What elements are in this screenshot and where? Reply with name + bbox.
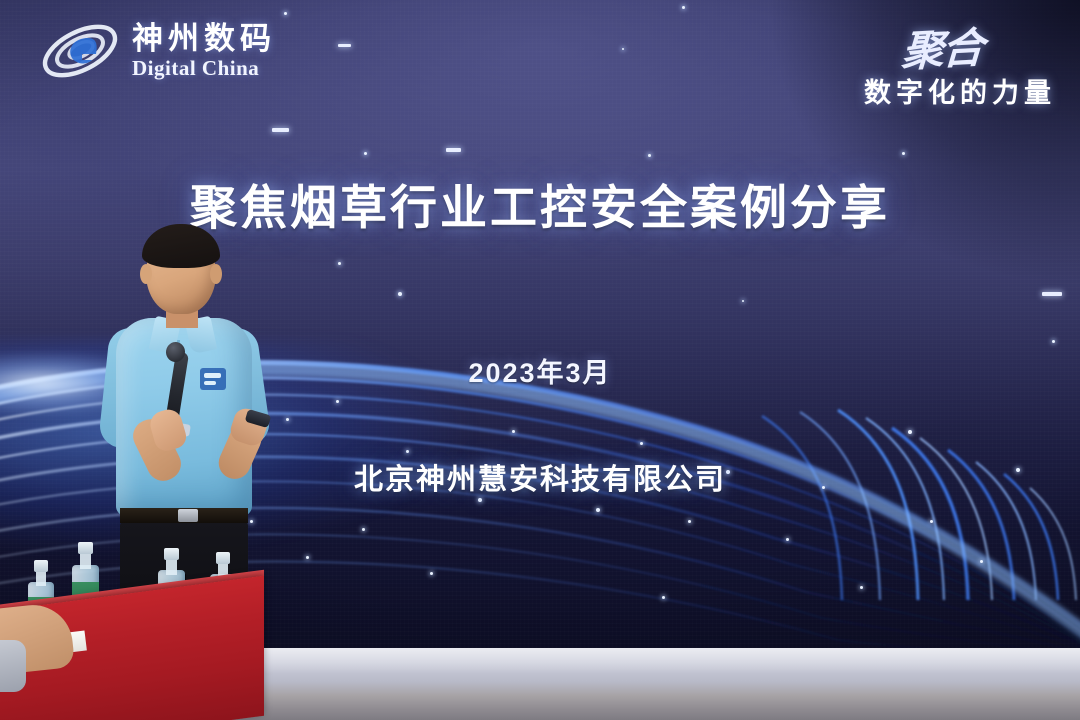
speaker-ear-right <box>210 264 222 284</box>
event-logo: 聚合 数字化的力量 <box>864 16 1056 110</box>
shirt-logo-mark-2 <box>204 381 216 385</box>
brand-name-cn: 神州数码 <box>132 23 276 54</box>
event-calligraphy: 聚合 <box>900 14 984 79</box>
shirt-logo-badge <box>200 368 226 390</box>
conference-photo: 聚焦烟草行业工控安全案例分享 2023年3月 北京神州慧安科技有限公司 神州数码… <box>0 0 1080 720</box>
spiral-galaxy-icon <box>38 18 122 84</box>
event-tagline: 数字化的力量 <box>864 71 1056 110</box>
speaker-ear-left <box>140 264 152 284</box>
speaker-hair <box>142 224 220 268</box>
attendee-sleeve <box>0 640 26 692</box>
shirt-logo-mark <box>204 373 221 378</box>
belt-buckle <box>178 509 198 522</box>
brand-logo: 神州数码 Digital China <box>38 18 276 84</box>
brand-text: 神州数码 Digital China <box>132 23 276 79</box>
brand-name-en: Digital China <box>132 58 276 79</box>
